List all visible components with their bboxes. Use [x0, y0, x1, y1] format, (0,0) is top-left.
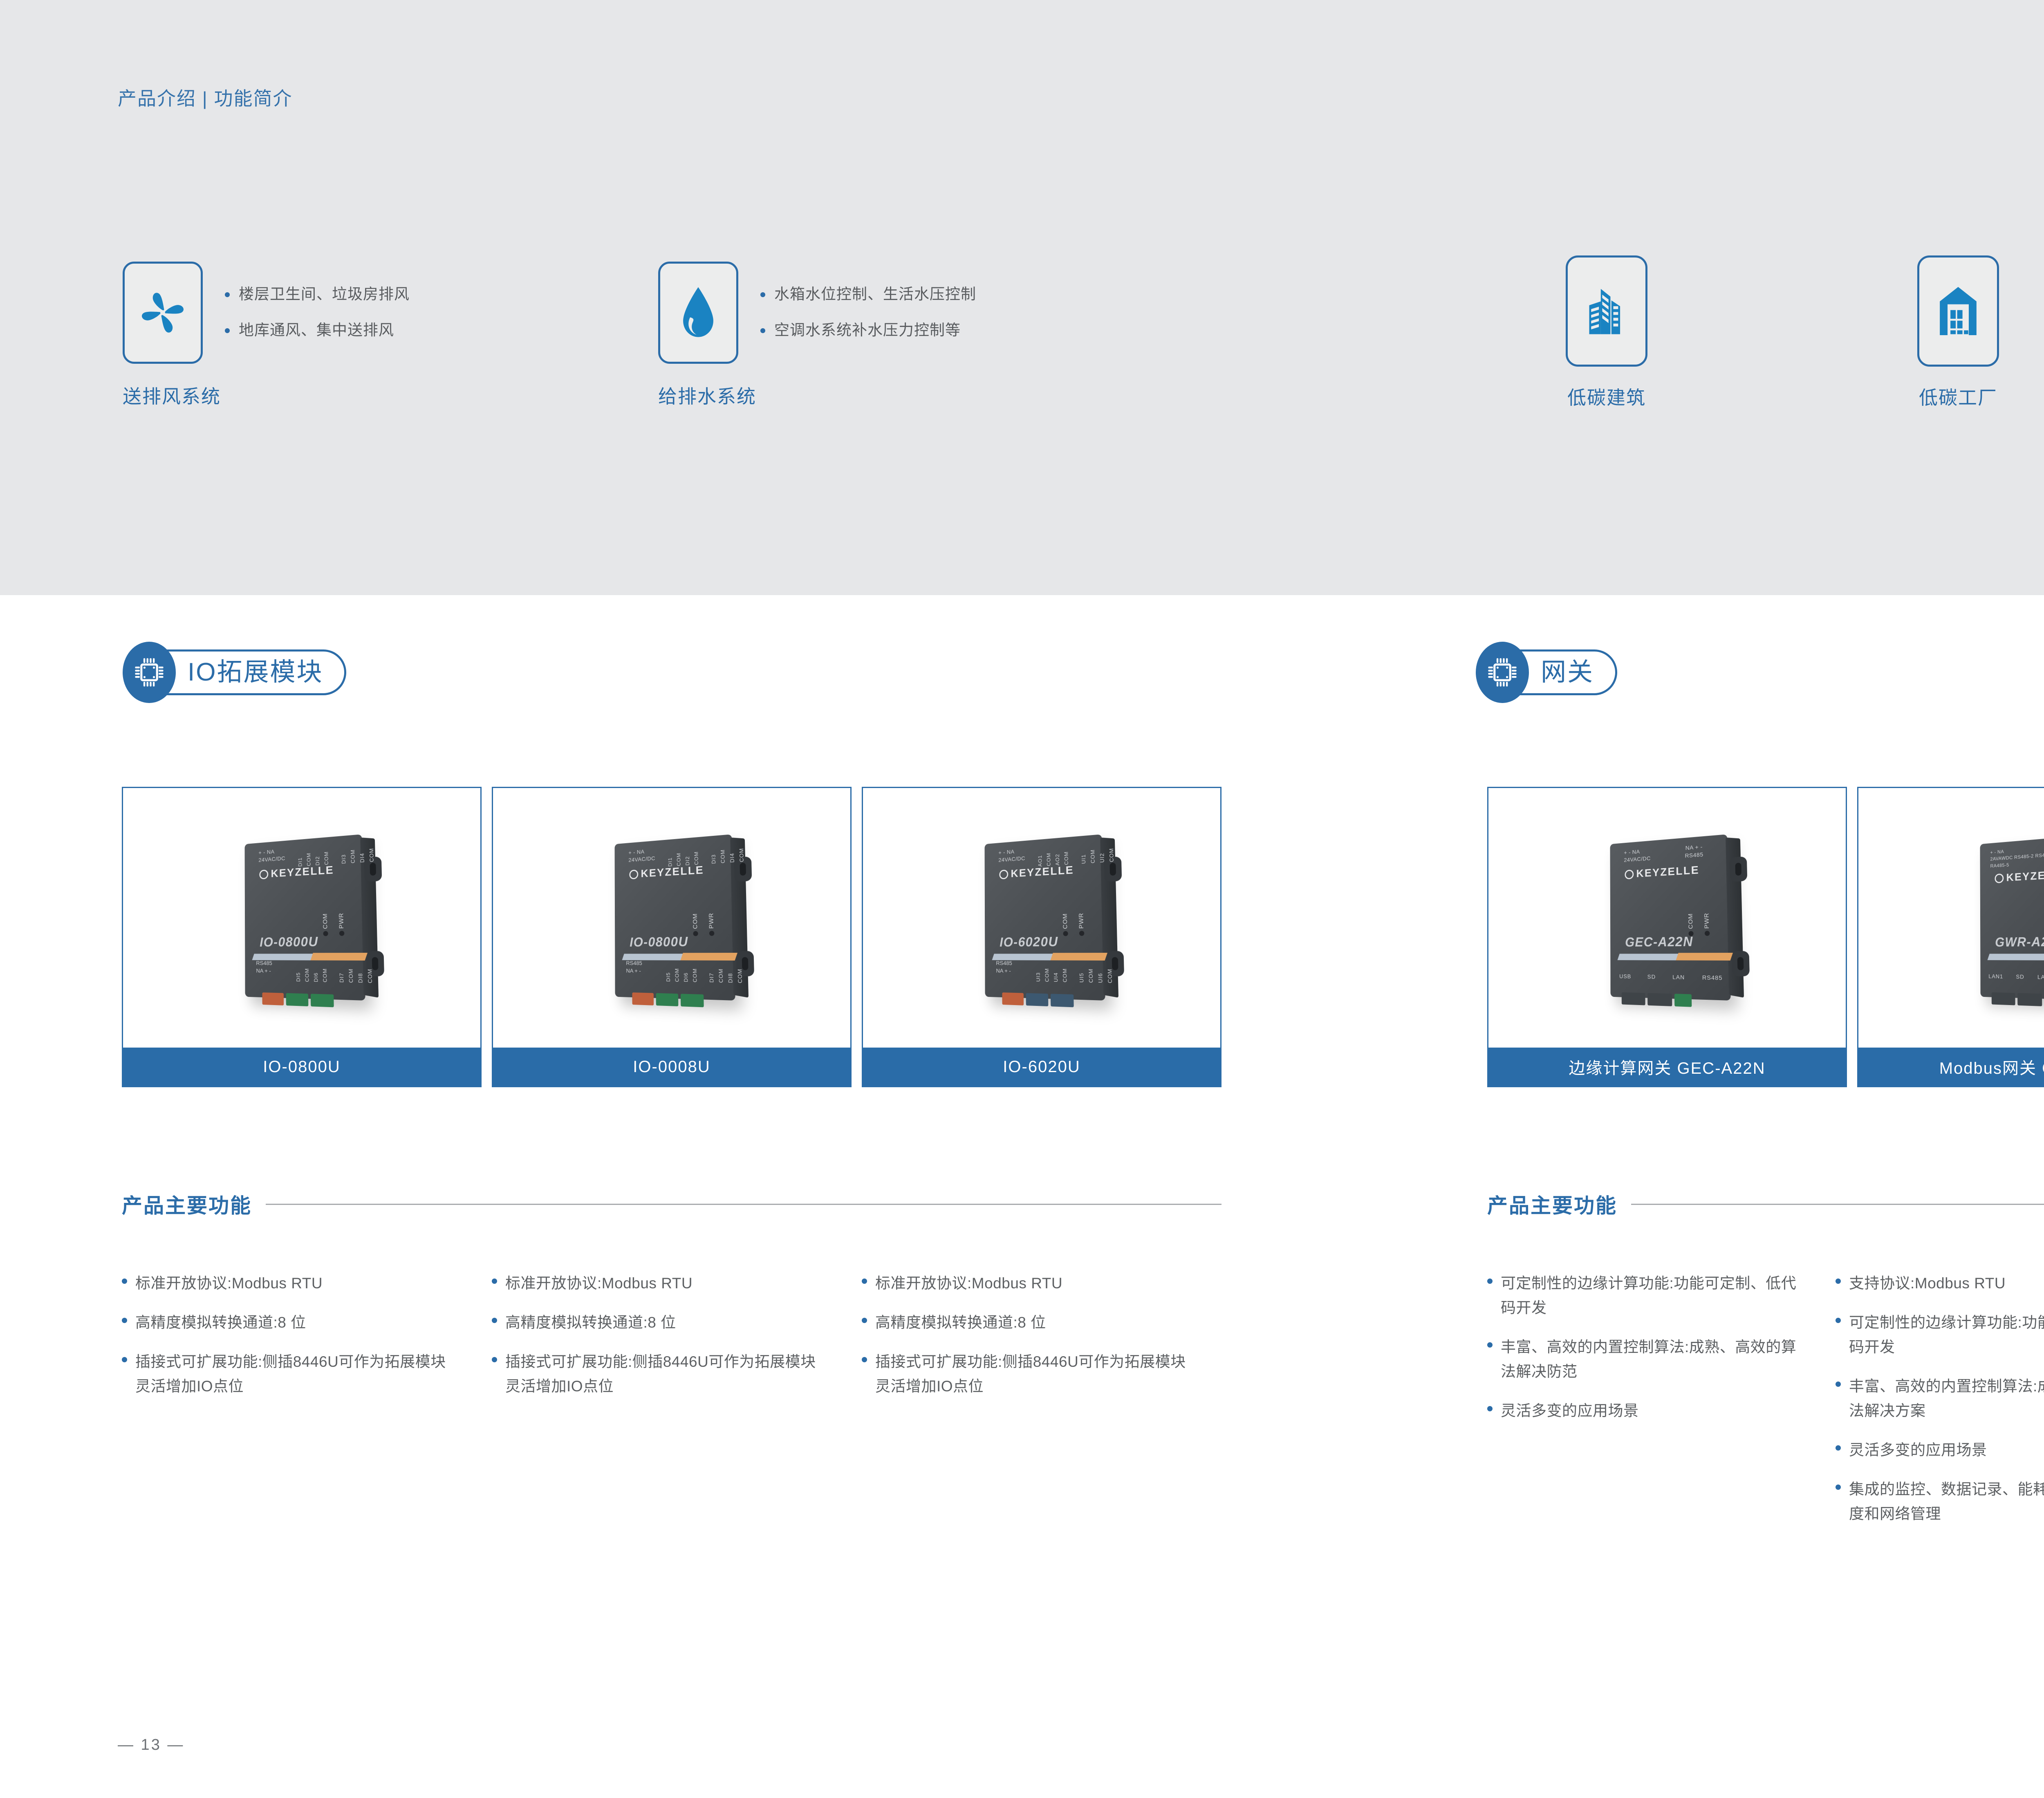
led-pwr-icon	[1704, 931, 1710, 936]
feature-item: 灵活多变的应用场景	[1487, 1399, 1810, 1423]
power-label-line2: 24VAC/DC	[258, 855, 285, 863]
building-tag-low-carbon-factory: 低碳工厂	[1917, 255, 1999, 410]
factory-icon-frame	[1917, 255, 1999, 367]
rs485-top-label: NA + - RS485	[1685, 843, 1703, 860]
features-heading-io: 产品主要功能	[122, 1189, 1221, 1219]
feature-item: 灵活多变的应用场景	[1836, 1438, 2044, 1462]
connector-block	[1622, 992, 1645, 1005]
feature-column: 标准开放协议:Modbus RTU 高精度模拟转换通道:8 位 插接式可扩展功能…	[862, 1271, 1201, 1413]
device-body: + - NA 2AVAWDC RS485-2 RS485-3 RS485-4 R…	[1980, 834, 2044, 1001]
fan-icon	[136, 286, 189, 339]
power-label: + - NA 24VAC/DC	[628, 847, 655, 864]
bullet-dot-icon	[1836, 1445, 1841, 1451]
led-label-com: COM	[322, 913, 329, 929]
bus-label: RS485 NA + -	[996, 959, 1012, 975]
led-pwr-icon	[709, 931, 714, 936]
feature-item: 可定制性的边缘计算功能:功能可定制、低代码开发	[1836, 1310, 2044, 1359]
status-leds: COM PWR	[692, 912, 715, 936]
product-card[interactable]: + - NA 24VAC/DC AO1 COM AO2 COM UI1 COM …	[862, 787, 1221, 1087]
led-com-icon	[323, 931, 328, 936]
section-title: 网关	[1541, 660, 1594, 685]
water-drop-icon-frame	[658, 262, 738, 364]
section-header-io-modules: IO拓展模块	[123, 642, 346, 703]
bullet-dot-icon	[760, 328, 765, 333]
bullet-dot-icon	[492, 1318, 497, 1323]
feature-item: 丰富、高效的内置控制算法:成熟、高效的算法解决防范	[1487, 1335, 1810, 1384]
bus-label: RS485 NA + -	[256, 959, 272, 975]
fan-icon-frame	[123, 262, 203, 364]
application-caption: 送排风系统	[123, 382, 221, 409]
connector-block	[262, 992, 284, 1005]
logo-ring-icon	[999, 869, 1008, 879]
bottom-port-labels: DI5 COM DI6 COM DI7 COM DI8 COM	[665, 958, 744, 983]
terminal-connectors	[632, 992, 704, 1007]
bullet-dot-icon	[122, 1357, 127, 1362]
product-caption: 边缘计算网关 GEC-A22N	[1488, 1048, 1846, 1086]
bullet-row: 楼层卫生间、垃圾房排风	[225, 285, 410, 303]
product-card[interactable]: + - NA 24VAC/DC NA + - RS485 KEYZELLE GE…	[1487, 787, 1847, 1087]
device-illustration: + - NA 24VAC/DC NA + - RS485 KEYZELLE GE…	[1606, 838, 1728, 998]
device-model-label: GWR-A25N	[1995, 934, 2044, 949]
logo-ring-icon	[1995, 873, 2004, 883]
power-label: + - NA 24VAC/DC	[258, 847, 285, 864]
device-illustration: + - NA 24VAC/DC DI1 COM DI2 COM DI3 COM …	[610, 838, 733, 998]
feature-item: 丰富、高效的内置控制算法:成熟、高效的算法解决方案	[1836, 1374, 2044, 1423]
chip-icon-badge	[1476, 642, 1529, 703]
brand-name: KEYZELLE	[2006, 868, 2044, 884]
water-drop-icon	[674, 284, 723, 342]
page-number-left: — 13 —	[118, 1736, 184, 1754]
logo-ring-icon	[259, 869, 268, 879]
feature-item: 高精度模拟转换通道:8 位	[122, 1310, 457, 1335]
device-body: + - NA 24VAC/DC AO1 COM AO2 COM UI1 COM …	[985, 834, 1105, 1001]
brand-logo: KEYZELLE	[629, 864, 704, 880]
bullet-dot-icon	[122, 1318, 127, 1323]
feature-item: 高精度模拟转换通道:8 位	[862, 1310, 1201, 1335]
feature-item: 插接式可扩展功能:侧插8446U可作为拓展模块灵活增加IO点位	[492, 1350, 827, 1399]
device-illustration: + - NA 2AVAWDC RS485-2 RS485-3 RS485-4 R…	[1976, 838, 2044, 998]
led-pwr-icon	[339, 931, 344, 936]
power-label-line1: + - NA	[258, 848, 274, 855]
status-leds: COM PWR	[1687, 912, 1711, 936]
brand-logo: KEYZELLE	[1995, 868, 2044, 884]
feature-item: 高精度模拟转换通道:8 位	[492, 1310, 827, 1335]
section-header-gateways: 网关	[1476, 642, 1617, 703]
application-block-water: 给排水系统 水箱水位控制、生活水压控制 空调水系统补水压力控制等	[658, 262, 756, 409]
bullet-dot-icon	[225, 292, 230, 297]
feature-item: 集成的监控、数据记录、能耗计量、报警、调度和网络管理	[1836, 1477, 2044, 1526]
product-image: + - NA 2AVAWDC RS485-2 RS485-3 RS485-4 R…	[1858, 788, 2044, 1048]
led-pwr-icon	[1079, 931, 1084, 936]
terminal-connectors	[1992, 992, 2044, 1007]
features-title: 产品主要功能	[1487, 1189, 1617, 1219]
heading-rule	[1631, 1204, 2044, 1205]
top-port-labels: DI1 COM DI2 COM DI3 COM DI4 COM	[667, 837, 745, 867]
brand-logo: KEYZELLE	[1625, 864, 1699, 880]
led-label-pwr: PWR	[338, 912, 345, 928]
heading-rule	[266, 1204, 1221, 1205]
device-illustration: + - NA 24VAC/DC AO1 COM AO2 COM UI1 COM …	[980, 838, 1103, 998]
device-body: + - NA 24VAC/DC NA + - RS485 KEYZELLE GE…	[1610, 834, 1731, 1001]
brochure-spread: 产品介绍 | 功能简介 产品介绍 | 功能简介 送排风系统 楼层卫生间、垃圾房排…	[0, 0, 2044, 1798]
connector-block	[1647, 993, 1672, 1006]
building-tag-low-carbon-building: 低碳建筑	[1566, 255, 1647, 410]
bullet-dot-icon	[862, 1357, 867, 1362]
feature-column: 标准开放协议:Modbus RTU 高精度模拟转换通道:8 位 插接式可扩展功能…	[122, 1271, 457, 1413]
feature-column: 支持协议:Modbus RTU 可定制性的边缘计算功能:功能可定制、低代码开发 …	[1836, 1271, 2044, 1541]
bullet-row: 空调水系统补水压力控制等	[760, 321, 976, 339]
brand-logo: KEYZELLE	[999, 864, 1074, 880]
bullet-dot-icon	[862, 1279, 867, 1284]
product-card[interactable]: + - NA 24VAC/DC DI1 COM DI2 COM DI3 COM …	[492, 787, 852, 1087]
connector-block	[311, 994, 334, 1007]
connector-block	[1992, 992, 2015, 1005]
accent-stripe-orange	[1676, 953, 1733, 961]
product-caption: IO-0008U	[493, 1048, 850, 1086]
bullet-dot-icon	[1836, 1279, 1841, 1284]
brand-name: KEYZELLE	[1011, 864, 1074, 880]
building-tag-caption: 低碳工厂	[1917, 383, 1999, 410]
product-caption: IO-6020U	[863, 1048, 1220, 1086]
accent-stripe-blue	[1988, 954, 2044, 960]
connector-block	[1674, 994, 1692, 1007]
connector-block	[681, 994, 704, 1007]
bullet-dot-icon	[1836, 1382, 1841, 1387]
product-caption: Modbus网关 GWR-A25N	[1858, 1048, 2044, 1086]
feature-item: 标准开放协议:Modbus RTU	[492, 1271, 827, 1296]
connector-block	[1002, 992, 1024, 1005]
power-label: + - NA 24VAC/DC	[1624, 847, 1651, 864]
led-com-icon	[1688, 931, 1693, 936]
power-label: + - NA 24VAC/DC	[998, 847, 1025, 864]
brand-name: KEYZELLE	[1636, 864, 1700, 880]
connector-block	[656, 993, 679, 1006]
product-card[interactable]: + - NA 24VAC/DC DI1 COM DI2 COM DI3 COM …	[122, 787, 482, 1087]
bullet-dot-icon	[122, 1279, 127, 1284]
building-tag-caption: 低碳建筑	[1566, 383, 1647, 410]
bottom-port-labels: UI3 COM UI4 COM UI5 COM UI6 COM	[1035, 958, 1114, 983]
factory-icon	[1934, 280, 1982, 342]
office-building-icon-frame	[1566, 255, 1647, 367]
device-body: + - NA 24VAC/DC DI1 COM DI2 COM DI3 COM …	[615, 834, 735, 1001]
office-building-icon	[1582, 280, 1631, 342]
feature-item: 可定制性的边缘计算功能:功能可定制、低代码开发	[1487, 1271, 1810, 1320]
bullet-dot-icon	[1836, 1485, 1841, 1490]
led-com-icon	[1063, 931, 1068, 936]
bullet-text: 楼层卫生间、垃圾房排风	[239, 285, 410, 303]
terminal-connectors	[1622, 992, 1692, 1007]
product-image: + - NA 24VAC/DC AO1 COM AO2 COM UI1 COM …	[863, 788, 1220, 1048]
chip-icon-badge	[123, 642, 176, 703]
feature-column: 可定制性的边缘计算功能:功能可定制、低代码开发 丰富、高效的内置控制算法:成熟、…	[1487, 1271, 1810, 1438]
bullet-dot-icon	[492, 1279, 497, 1284]
connector-block	[286, 993, 309, 1006]
product-image: + - NA 24VAC/DC DI1 COM DI2 COM DI3 COM …	[493, 788, 850, 1048]
feature-item: 插接式可扩展功能:侧插8446U可作为拓展模块灵活增加IO点位	[122, 1350, 457, 1399]
bullet-text: 地库通风、集中送排风	[239, 321, 394, 339]
device-illustration: + - NA 24VAC/DC DI1 COM DI2 COM DI3 COM …	[240, 838, 363, 998]
terminal-connectors	[1002, 992, 1074, 1007]
connector-block	[2017, 993, 2042, 1006]
connector-block	[1051, 994, 1074, 1007]
application-bullet-list: 水箱水位控制、生活水压控制 空调水系统补水压力控制等	[760, 285, 976, 358]
logo-ring-icon	[1625, 869, 1634, 879]
bus-label: RS485 NA + -	[626, 959, 642, 975]
bullet-text: 空调水系统补水压力控制等	[774, 321, 961, 339]
bullet-text: 水箱水位控制、生活水压控制	[774, 285, 976, 303]
chip-icon	[1486, 656, 1519, 689]
feature-item: 插接式可扩展功能:侧插8446U可作为拓展模块灵活增加IO点位	[862, 1350, 1201, 1399]
product-card[interactable]: + - NA 2AVAWDC RS485-2 RS485-3 RS485-4 R…	[1857, 787, 2044, 1087]
status-leds: COM PWR	[1062, 912, 1085, 936]
bullet-row: 地库通风、集中送排风	[225, 321, 410, 339]
device-model-label: IO-6020U	[1000, 934, 1058, 949]
connector-block	[1026, 993, 1049, 1006]
bottom-port-labels: LAN1 SD LAN2 RS485-1	[1988, 973, 2044, 981]
features-title: 产品主要功能	[122, 1189, 252, 1219]
feature-item: 标准开放协议:Modbus RTU	[862, 1271, 1201, 1296]
bullet-dot-icon	[1487, 1342, 1493, 1348]
section-title: IO拓展模块	[188, 660, 323, 685]
status-leds: COM PWR	[322, 912, 345, 936]
product-caption: IO-0800U	[123, 1048, 480, 1086]
features-heading-gateways: 产品主要功能	[1487, 1189, 2044, 1219]
bullet-dot-icon	[760, 292, 765, 297]
bullet-dot-icon	[225, 328, 230, 333]
terminal-connectors	[262, 992, 334, 1007]
top-port-labels: AO1 COM AO2 COM UI1 COM UI2 COM	[1037, 837, 1115, 867]
product-image: + - NA 24VAC/DC DI1 COM DI2 COM DI3 COM …	[123, 788, 480, 1048]
chip-icon	[132, 656, 166, 689]
brand-name: KEYZELLE	[641, 864, 704, 880]
bullet-dot-icon	[1487, 1279, 1493, 1284]
device-body: + - NA 24VAC/DC DI1 COM DI2 COM DI3 COM …	[245, 834, 365, 1001]
top-port-labels: DI1 COM DI2 COM DI3 COM DI4 COM	[297, 837, 375, 867]
product-image: + - NA 24VAC/DC NA + - RS485 KEYZELLE GE…	[1488, 788, 1846, 1048]
feature-column: 标准开放协议:Modbus RTU 高精度模拟转换通道:8 位 插接式可扩展功能…	[492, 1271, 827, 1413]
brand-name: KEYZELLE	[271, 864, 334, 880]
bullet-dot-icon	[1487, 1406, 1493, 1411]
feature-item: 支持协议:Modbus RTU	[1836, 1271, 2044, 1296]
bullet-dot-icon	[492, 1357, 497, 1362]
bottom-port-labels: USB SD LAN RS485	[1619, 973, 1723, 981]
device-model-label: IO-0800U	[630, 934, 688, 949]
accent-stripe-blue	[1618, 954, 1685, 960]
application-caption: 给排水系统	[658, 382, 756, 409]
device-model-label: GEC-A22N	[1625, 934, 1693, 950]
application-bullet-list: 楼层卫生间、垃圾房排风 地库通风、集中送排风	[225, 285, 410, 358]
bullet-dot-icon	[862, 1318, 867, 1323]
brand-logo: KEYZELLE	[259, 864, 334, 880]
logo-ring-icon	[629, 869, 638, 879]
mount-ear-icon	[1731, 951, 1750, 976]
led-com-icon	[693, 931, 698, 936]
feature-item: 标准开放协议:Modbus RTU	[122, 1271, 457, 1296]
device-model-label: IO-0800U	[260, 934, 318, 949]
bullet-dot-icon	[1836, 1318, 1841, 1323]
power-label: + - NA 2AVAWDC RS485-2 RS485-3 RS485-4 R…	[1990, 841, 2044, 869]
running-header-left: 产品介绍 | 功能简介	[118, 84, 293, 111]
application-block-ventilation: 送排风系统 楼层卫生间、垃圾房排风 地库通风、集中送排风	[123, 262, 221, 409]
connector-block	[632, 992, 654, 1005]
bottom-port-labels: DI5 COM DI6 COM DI7 COM DI8 COM	[295, 958, 374, 983]
bullet-row: 水箱水位控制、生活水压控制	[760, 285, 976, 303]
mount-ear-icon	[1729, 856, 1747, 882]
